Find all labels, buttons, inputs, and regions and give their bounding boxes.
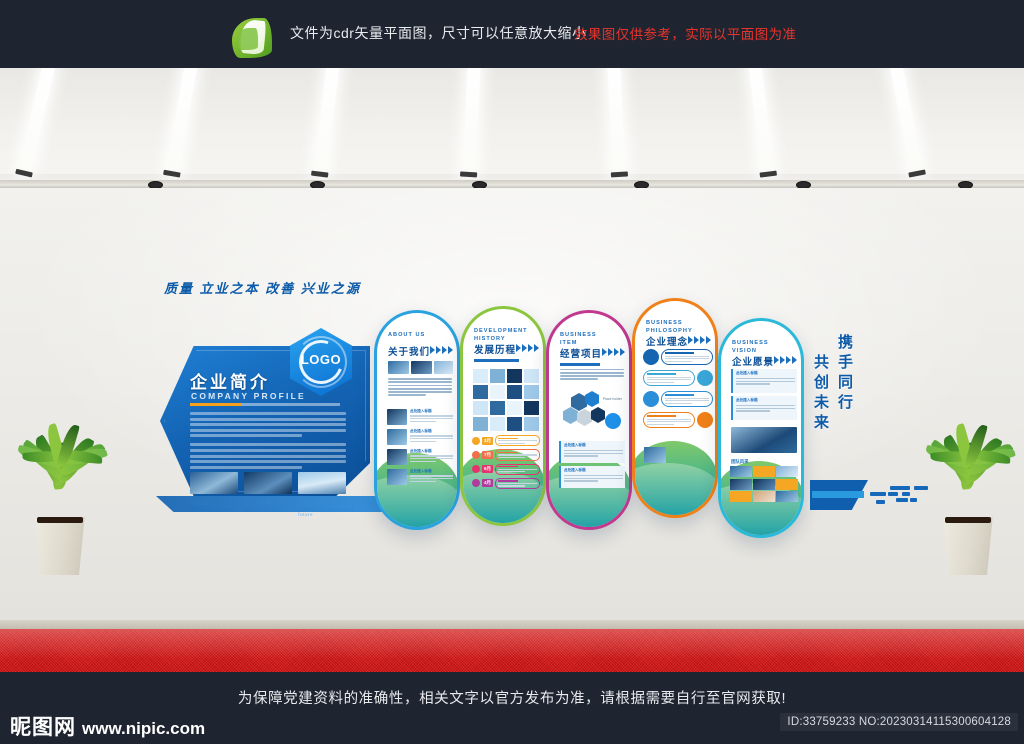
- team-photo: [730, 479, 752, 490]
- timeline-dot-icon: [472, 465, 480, 473]
- pill-grid-cell: [507, 369, 522, 383]
- pill-grid-cell: [473, 369, 488, 383]
- pill-card[interactable]: 此处插入标题: [387, 409, 453, 425]
- pill-grid-cell: [524, 385, 539, 399]
- right-slogan-column-1: 携手同行: [834, 334, 855, 414]
- pill-title-cn: 关于我们: [388, 344, 430, 358]
- pill-photo: [411, 361, 432, 374]
- company-profile-title-cn: 企业简介: [190, 368, 270, 393]
- team-photo: [776, 491, 798, 502]
- timeline-dot-icon: [472, 479, 480, 487]
- pill-grid-cell: [473, 417, 488, 431]
- team-photo: [730, 466, 752, 477]
- pill-card-title: 此处插入标题: [736, 371, 795, 376]
- timeline-dot-icon: [472, 437, 480, 445]
- bottom-slogan-text: 质量 立业之本 改善 兴业之源: [164, 278, 361, 297]
- team-photo: [776, 466, 798, 477]
- pill-grid-cell: [490, 385, 505, 399]
- plant-pot: [940, 517, 996, 575]
- logo-badge: LOGO: [290, 328, 352, 396]
- pill-title-en: BUSINESSPHILOSOPHY: [646, 319, 693, 335]
- pill-card-list: 此处插入标题此处插入标题: [731, 369, 797, 423]
- chevron-right-icon: [516, 344, 539, 352]
- timeline-row: 7月: [472, 449, 540, 460]
- room-scene: 企业简介 COMPANY PROFILE 相信自己 Believe in you…: [0, 68, 1024, 672]
- red-carpet-floor: [0, 629, 1024, 672]
- top-info-bar: 文件为cdr矢量平面图，尺寸可以任意放大缩小 效果图仅供参考，实际以平面图为准: [0, 0, 1024, 68]
- pill-title-cn: 企业理念: [646, 334, 688, 348]
- pill-grid-cell: [507, 401, 522, 415]
- pill-panel-development-history[interactable]: DEVELOPMENTHISTORY发展历程3月7月6月4月: [460, 306, 546, 526]
- team-photo-grid: [730, 466, 798, 502]
- pill-lead-text: [560, 363, 624, 382]
- pill-card[interactable]: 此处插入标题: [559, 466, 625, 488]
- pill-grid-cell: [507, 417, 522, 431]
- pill-grid-cell: [524, 401, 539, 415]
- pill-card-title: 此处插入标题: [736, 398, 795, 403]
- pill-grid-cell: [507, 385, 522, 399]
- pill-card-photo: [387, 469, 407, 485]
- pill-icon-grid: [473, 369, 539, 431]
- pill-card[interactable]: 此处插入标题: [559, 441, 625, 463]
- pill-photo: [434, 361, 453, 374]
- ceiling: [0, 68, 1024, 188]
- philosophy-row: [643, 391, 713, 407]
- pill-card[interactable]: 此处插入标题: [387, 429, 453, 445]
- timeline-dot-icon: [472, 451, 480, 459]
- pill-card[interactable]: 此处插入标题: [731, 369, 797, 393]
- pill-card-list: 此处插入标题此处插入标题此处插入标题此处插入标题: [387, 409, 453, 489]
- pill-panel-business-item[interactable]: BUSINESSITEM经营项目Place holder此处插入标题此处插入标题: [546, 310, 632, 530]
- timeline-year: 4月: [482, 479, 493, 487]
- team-photo: [753, 466, 775, 477]
- timeline-row: 4月: [472, 478, 540, 489]
- timeline-year: 7月: [482, 451, 493, 459]
- thumb-photo: [298, 472, 346, 494]
- pill-card-title: 此处插入标题: [410, 429, 453, 434]
- baseboard: [0, 620, 1024, 629]
- philosophy-row: [643, 370, 713, 386]
- site-url: www.nipic.com: [82, 719, 205, 739]
- pill-title-cn: 企业愿景: [732, 354, 774, 368]
- right-slogan-column-2: 共创未来: [810, 354, 831, 434]
- chevron-right-icon: [602, 348, 625, 356]
- pill-card[interactable]: 此处插入标题: [387, 469, 453, 485]
- pill-grid-cell: [490, 401, 505, 415]
- top-warning-text: 效果图仅供参考，实际以平面图为准: [574, 23, 796, 43]
- pill-title-en: DEVELOPMENTHISTORY: [474, 327, 528, 343]
- company-profile-body: [190, 412, 346, 471]
- thumb-photo: [244, 472, 292, 494]
- pill-card-title: 此处插入标题: [410, 469, 453, 474]
- pill-card-title: 此处插入标题: [410, 449, 453, 454]
- pill-timeline: 3月7月6月4月: [472, 435, 540, 492]
- timeline-year: 6月: [482, 465, 493, 473]
- pill-card[interactable]: 此处插入标题: [731, 396, 797, 420]
- team-photo: [753, 479, 775, 490]
- logo-text: LOGO: [290, 352, 352, 367]
- title-rule: [190, 403, 340, 406]
- pill-philosophy-list: [643, 349, 713, 433]
- philosophy-row: [643, 412, 713, 428]
- bottom-note-text: 为保障党建资料的准确性，相关文字以官方发布为准，请根据需要自行至官网获取!: [0, 687, 1024, 708]
- potted-plant-left: [4, 390, 124, 575]
- pill-card-photo: [387, 449, 407, 465]
- company-profile-title-en: COMPANY PROFILE: [191, 391, 306, 401]
- chevron-right-icon: [430, 346, 453, 354]
- pill-lead-text: [388, 378, 452, 398]
- timeline-year: 3月: [482, 437, 493, 445]
- team-photo: [753, 491, 775, 502]
- pill-lead-text: [474, 359, 538, 365]
- pill-grid-cell: [524, 369, 539, 383]
- pill-title-en: BUSINESSITEM: [560, 331, 597, 347]
- pill-grid-cell: [490, 417, 505, 431]
- pill-panel-about-us[interactable]: ABOUT US关于我们此处插入标题此处插入标题此处插入标题此处插入标题: [374, 310, 460, 530]
- pill-grid-cell: [473, 385, 488, 399]
- philosophy-row: [643, 349, 713, 365]
- timeline-row: 6月: [472, 464, 540, 475]
- pill-card-title: 此处插入标题: [564, 468, 623, 473]
- leaf-logo-icon: [232, 16, 276, 58]
- pill-card[interactable]: 此处插入标题: [387, 449, 453, 465]
- profile-thumbnails: [190, 472, 346, 494]
- arrow-decoration: [810, 476, 930, 516]
- pill-title-cn: 经营项目: [560, 346, 602, 360]
- pill-card-photo: [387, 409, 407, 425]
- top-note-text: 文件为cdr矢量平面图，尺寸可以任意放大缩小: [290, 23, 586, 43]
- pill-photo: [388, 361, 409, 374]
- pill-panel-business-vision[interactable]: BUSINESSVISION企业愿景此处插入标题此处插入标题团队风采: [718, 318, 804, 538]
- pill-grid-cell: [490, 369, 505, 383]
- bottom-slogan-bar: [156, 496, 406, 522]
- pill-grid-cell: [524, 417, 539, 431]
- timeline-row: 3月: [472, 435, 540, 446]
- chevron-right-icon: [774, 356, 797, 364]
- image-id-tag: ID:33759233 NO:20230314115300604128: [780, 713, 1018, 731]
- pill-panel-business-philosophy[interactable]: BUSINESSPHILOSOPHY企业理念: [632, 298, 718, 518]
- plant-pot: [32, 517, 88, 575]
- pill-card-photo: [387, 429, 407, 445]
- thumb-photo: [190, 472, 238, 494]
- team-showcase-title: 团队风采: [731, 459, 749, 465]
- pill-hill-highlight: [632, 463, 718, 515]
- screenshot-root: 文件为cdr矢量平面图，尺寸可以任意放大缩小 效果图仅供参考，实际以平面图为准 …: [0, 0, 1024, 744]
- pill-card-list: 此处插入标题此处插入标题: [559, 441, 625, 491]
- culture-wall-graphic: 企业简介 COMPANY PROFILE 相信自己 Believe in you…: [150, 248, 910, 548]
- pill-card-title: 此处插入标题: [564, 443, 623, 448]
- site-watermark: 昵图网 www.nipic.com: [10, 711, 205, 741]
- pill-grid-cell: [473, 401, 488, 415]
- pill-photo: [731, 427, 797, 453]
- site-name-cn: 昵图网: [10, 711, 76, 741]
- chevron-right-icon: [688, 336, 711, 344]
- pill-card-title: 此处插入标题: [410, 409, 453, 414]
- placeholder-label: Place holder: [603, 397, 622, 401]
- pill-hexagon-cluster: Place holder: [559, 391, 625, 435]
- pill-title-en: BUSINESSVISION: [732, 339, 769, 355]
- team-photo: [776, 479, 798, 490]
- pill-title-en: ABOUT US: [388, 331, 425, 339]
- pill-title-cn: 发展历程: [474, 342, 516, 356]
- team-photo: [730, 491, 752, 502]
